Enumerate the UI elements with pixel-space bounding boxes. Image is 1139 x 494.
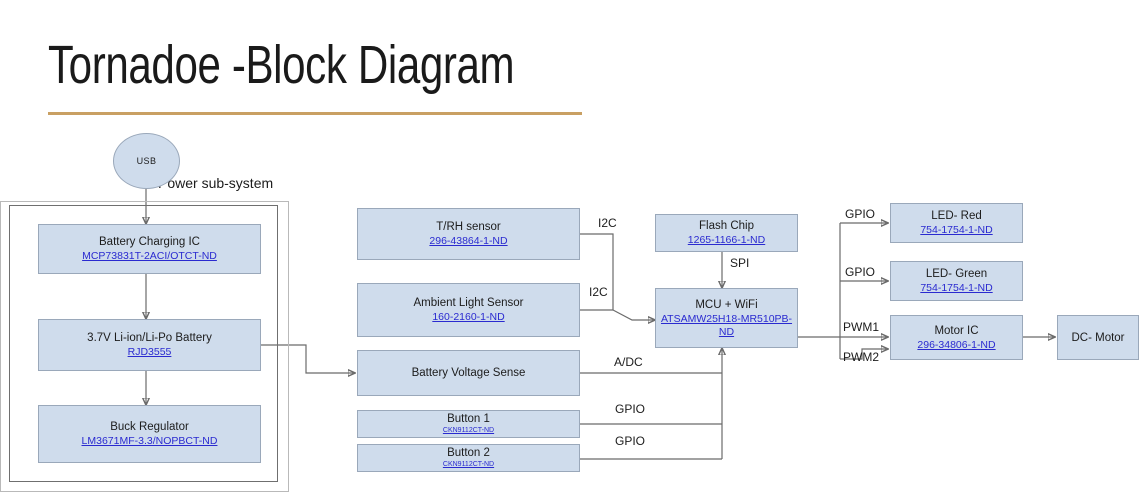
part-number-link[interactable]: CKN9112CT-ND xyxy=(443,460,494,469)
block-label: Battery Voltage Sense xyxy=(412,366,526,380)
block-label: Button 2 xyxy=(447,447,490,460)
block-battery-charging-ic[interactable]: Battery Charging IC MCP73831T-2ACI/OTCT-… xyxy=(38,224,261,274)
part-number-link[interactable]: LM3671MF-3.3/NOPBCT-ND xyxy=(82,435,218,448)
block-button-2[interactable]: Button 2 CKN9112CT-ND xyxy=(357,444,580,472)
signal-label-gpio-button-2: GPIO xyxy=(615,434,645,448)
part-number-link[interactable]: 296-34806-1-ND xyxy=(917,339,995,352)
power-subsystem-label: Power sub-system xyxy=(158,175,273,191)
block-motor-ic[interactable]: Motor IC 296-34806-1-ND xyxy=(890,315,1023,360)
part-number-link[interactable]: MCP73831T-2ACI/OTCT-ND xyxy=(82,250,217,263)
part-number-link[interactable]: 754-1754-1-ND xyxy=(920,282,992,295)
block-mcu-wifi[interactable]: MCU + WiFi ATSAMW25H18-MR510PB-ND xyxy=(655,288,798,348)
signal-label-gpio-led-green: GPIO xyxy=(845,265,875,279)
block-label: Buck Regulator xyxy=(110,420,189,434)
block-flash-chip[interactable]: Flash Chip 1265-1166-1-ND xyxy=(655,214,798,252)
block-trh-sensor[interactable]: T/RH sensor 296-43864-1-ND xyxy=(357,208,580,260)
block-led-red[interactable]: LED- Red 754-1754-1-ND xyxy=(890,203,1023,243)
signal-label-adc: A/DC xyxy=(614,355,643,369)
block-label: Ambient Light Sensor xyxy=(414,296,524,310)
block-buck-regulator[interactable]: Buck Regulator LM3671MF-3.3/NOPBCT-ND xyxy=(38,405,261,463)
part-number-link[interactable]: 160-2160-1-ND xyxy=(432,311,504,324)
block-label: Battery Charging IC xyxy=(99,235,200,249)
usb-source-node[interactable]: USB xyxy=(113,133,180,189)
block-battery[interactable]: 3.7V Li-ion/Li-Po Battery RJD3555 xyxy=(38,319,261,371)
block-dc-motor[interactable]: DC- Motor xyxy=(1057,315,1139,360)
block-label: T/RH sensor xyxy=(436,220,501,234)
block-label: DC- Motor xyxy=(1071,331,1124,345)
block-label: Motor IC xyxy=(934,324,978,338)
block-label: Flash Chip xyxy=(699,219,754,233)
part-number-link[interactable]: CKN9112CT-ND xyxy=(443,426,494,435)
block-label: LED- Green xyxy=(926,267,987,281)
part-number-link[interactable]: ATSAMW25H18-MR510PB-ND xyxy=(656,313,797,339)
block-battery-voltage-sense[interactable]: Battery Voltage Sense xyxy=(357,350,580,396)
signal-label-pwm2: PWM2 xyxy=(843,350,879,364)
signal-label-i2c-als: I2C xyxy=(589,285,608,299)
block-button-1[interactable]: Button 1 CKN9112CT-ND xyxy=(357,410,580,438)
signal-label-gpio-led-red: GPIO xyxy=(845,207,875,221)
signal-label-i2c-trh: I2C xyxy=(598,216,617,230)
part-number-link[interactable]: RJD3555 xyxy=(128,346,172,359)
usb-label: USB xyxy=(137,156,157,166)
block-led-green[interactable]: LED- Green 754-1754-1-ND xyxy=(890,261,1023,301)
block-label: Button 1 xyxy=(447,413,490,426)
part-number-link[interactable]: 296-43864-1-ND xyxy=(429,235,507,248)
block-label: 3.7V Li-ion/Li-Po Battery xyxy=(87,331,212,345)
signal-label-spi: SPI xyxy=(730,256,749,270)
part-number-link[interactable]: 754-1754-1-ND xyxy=(920,224,992,237)
block-ambient-light-sensor[interactable]: Ambient Light Sensor 160-2160-1-ND xyxy=(357,283,580,337)
signal-label-gpio-button-1: GPIO xyxy=(615,402,645,416)
page-title: Tornadoe -Block Diagram xyxy=(48,36,514,94)
part-number-link[interactable]: 1265-1166-1-ND xyxy=(688,234,765,247)
signal-label-pwm1: PWM1 xyxy=(843,320,879,334)
block-label: LED- Red xyxy=(931,209,982,223)
title-underline xyxy=(48,112,582,115)
block-label: MCU + WiFi xyxy=(695,298,757,312)
slide-canvas: Tornadoe -Block Diagram xyxy=(0,0,1139,494)
